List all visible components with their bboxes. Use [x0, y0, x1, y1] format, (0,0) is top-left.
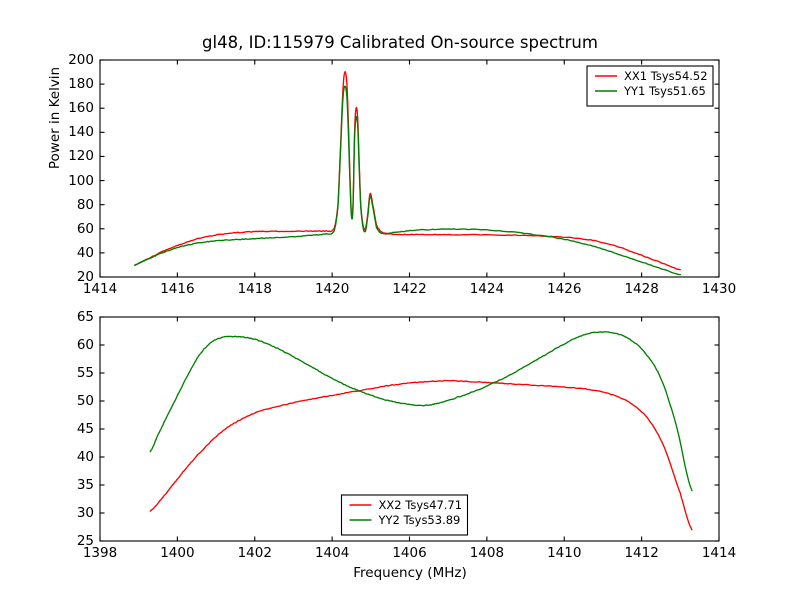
top-legend-label: XX1 Tsys54.52: [624, 69, 708, 83]
bottom-x-tick-label: 1408: [470, 545, 504, 561]
top-x-tick-label: 1416: [160, 281, 194, 297]
top-x-tick-label: 1424: [470, 281, 504, 297]
top-legend-label: YY1 Tsys51.65: [624, 84, 706, 98]
bottom-x-tick-label: 1404: [315, 545, 349, 561]
top-x-tick-label: 1418: [238, 281, 272, 297]
bottom-x-tick-label: 1406: [392, 545, 426, 561]
bottom-x-tick-label: 1402: [238, 545, 272, 561]
bottom-x-tick-label: 1400: [160, 545, 194, 561]
top-y-tick-label: 100: [38, 173, 94, 189]
matplotlib-figure: gl48, ID:115979 Calibrated On-source spe…: [0, 0, 800, 600]
top-x-tick-label: 1430: [702, 281, 736, 297]
bottom-legend-label: XX2 Tsys47.71: [379, 498, 463, 512]
top-y-tick-label: 40: [38, 245, 94, 261]
top-series-yy: [135, 86, 680, 274]
bottom-x-tick-label: 1414: [702, 545, 736, 561]
top-y-tick-label: 120: [38, 148, 94, 164]
top-y-tick-label: 20: [38, 269, 94, 285]
bottom-y-tick-label: 30: [38, 505, 94, 521]
bottom-legend-label: YY2 Tsys53.89: [379, 513, 461, 527]
top-x-tick-label: 1422: [392, 281, 426, 297]
bottom-x-tick-label: 1412: [624, 545, 658, 561]
top-y-tick-label: 140: [38, 124, 94, 140]
top-x-tick-label: 1428: [624, 281, 658, 297]
top-x-tick-label: 1426: [547, 281, 581, 297]
bottom-y-tick-label: 40: [38, 449, 94, 465]
top-y-tick-label: 200: [38, 52, 94, 68]
top-y-tick-label: 160: [38, 100, 94, 116]
bottom-y-tick-label: 65: [38, 309, 94, 325]
bottom-y-tick-label: 35: [38, 477, 94, 493]
bottom-y-tick-label: 45: [38, 421, 94, 437]
top-y-tick-label: 60: [38, 221, 94, 237]
top-y-tick-label: 80: [38, 197, 94, 213]
top-y-tick-label: 180: [38, 76, 94, 92]
bottom-series-yy: [150, 332, 692, 491]
bottom-y-tick-label: 25: [38, 533, 94, 549]
bottom-y-tick-label: 50: [38, 393, 94, 409]
top-x-tick-label: 1420: [315, 281, 349, 297]
bottom-y-tick-label: 55: [38, 365, 94, 381]
bottom-x-tick-label: 1410: [547, 545, 581, 561]
bottom-y-tick-label: 60: [38, 337, 94, 353]
